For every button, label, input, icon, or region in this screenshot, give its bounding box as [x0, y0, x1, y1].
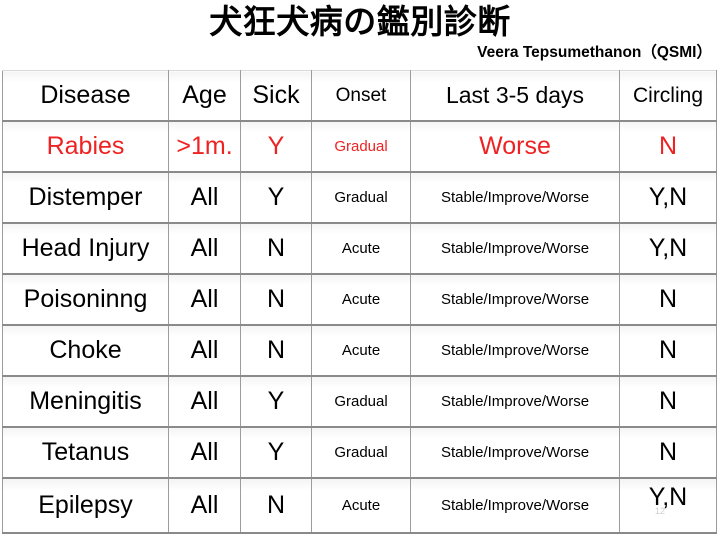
cell-onset: Acute	[312, 478, 411, 533]
cell-last: Stable/Improve/Worse	[411, 325, 620, 376]
table-row: Meningitis All Y Gradual Stable/Improve/…	[3, 376, 717, 427]
page-title: 犬狂犬病の鑑別診断	[0, 2, 720, 42]
title-block: 犬狂犬病の鑑別診断 Veera Tepsumethanon（QSMI）	[0, 0, 720, 63]
column-header-age: Age	[169, 71, 241, 122]
cell-disease: Tetanus	[3, 427, 169, 478]
table-header-row: Disease Age Sick Onset Last 3-5 days Cir…	[3, 71, 717, 122]
table-row: Epilepsy All N Acute Stable/Improve/Wors…	[3, 478, 717, 533]
cell-last: Stable/Improve/Worse	[411, 274, 620, 325]
cell-disease: Meningitis	[3, 376, 169, 427]
cell-sick: N	[241, 325, 312, 376]
cell-onset: Acute	[312, 325, 411, 376]
cell-onset: Acute	[312, 274, 411, 325]
cell-age: All	[169, 427, 241, 478]
cell-last: Stable/Improve/Worse	[411, 376, 620, 427]
cell-age: All	[169, 172, 241, 223]
cell-onset: Gradual	[312, 376, 411, 427]
cell-sick: N	[241, 274, 312, 325]
cell-sick: N	[241, 223, 312, 274]
cell-onset: Gradual	[312, 172, 411, 223]
cell-sick: Y	[241, 172, 312, 223]
table-row: Distemper All Y Gradual Stable/Improve/W…	[3, 172, 717, 223]
cell-disease: Rabies	[3, 121, 169, 172]
cell-disease: Epilepsy	[3, 478, 169, 533]
cell-sick: N	[241, 478, 312, 533]
cell-age: All	[169, 274, 241, 325]
table-row: Head Injury All N Acute Stable/Improve/W…	[3, 223, 717, 274]
cell-disease: Choke	[3, 325, 169, 376]
cell-last: Stable/Improve/Worse	[411, 478, 620, 533]
cell-age: All	[169, 478, 241, 533]
column-header-disease: Disease	[3, 71, 169, 122]
column-header-onset: Onset	[312, 71, 411, 122]
cell-circling: Y,N	[620, 478, 717, 533]
cell-disease: Head Injury	[3, 223, 169, 274]
cell-last: Stable/Improve/Worse	[411, 223, 620, 274]
column-header-sick: Sick	[241, 71, 312, 122]
cell-age: >1m.	[169, 121, 241, 172]
cell-circling: Y,N	[620, 172, 717, 223]
table-row: Rabies >1m. Y Gradual Worse N	[3, 121, 717, 172]
author-byline: Veera Tepsumethanon（QSMI）	[0, 43, 720, 63]
cell-circling: N	[620, 325, 717, 376]
table-row: Choke All N Acute Stable/Improve/Worse N	[3, 325, 717, 376]
column-header-last-3-5-days: Last 3-5 days	[411, 71, 620, 122]
cell-onset: Acute	[312, 223, 411, 274]
cell-disease: Distemper	[3, 172, 169, 223]
cell-sick: Y	[241, 376, 312, 427]
diagnosis-table-container: Disease Age Sick Onset Last 3-5 days Cir…	[2, 70, 716, 534]
cell-circling: Y,N	[620, 223, 717, 274]
table-row: Tetanus All Y Gradual Stable/Improve/Wor…	[3, 427, 717, 478]
cell-circling: N	[620, 274, 717, 325]
cell-disease: Poisoninng	[3, 274, 169, 325]
cell-sick: Y	[241, 427, 312, 478]
cell-sick: Y	[241, 121, 312, 172]
cell-last: Stable/Improve/Worse	[411, 172, 620, 223]
cell-age: All	[169, 325, 241, 376]
table-row: Poisoninng All N Acute Stable/Improve/Wo…	[3, 274, 717, 325]
slide-page-number: 12	[655, 506, 665, 516]
cell-last: Worse	[411, 121, 620, 172]
cell-onset: Gradual	[312, 427, 411, 478]
cell-age: All	[169, 223, 241, 274]
cell-age: All	[169, 376, 241, 427]
cell-onset: Gradual	[312, 121, 411, 172]
differential-diagnosis-table: Disease Age Sick Onset Last 3-5 days Cir…	[2, 70, 717, 534]
column-header-circling: Circling	[620, 71, 717, 122]
cell-circling: N	[620, 376, 717, 427]
cell-circling: N	[620, 427, 717, 478]
cell-circling: N	[620, 121, 717, 172]
cell-last: Stable/Improve/Worse	[411, 427, 620, 478]
